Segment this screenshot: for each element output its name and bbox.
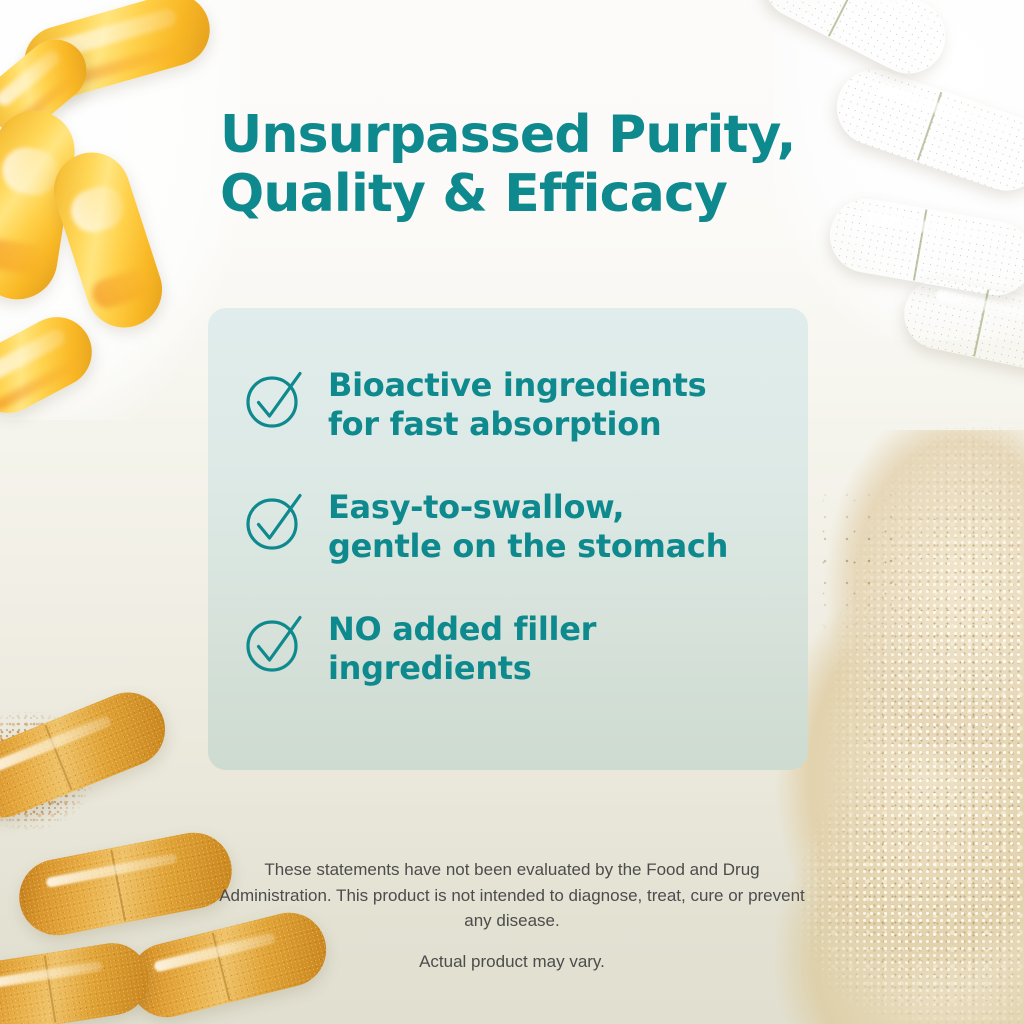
benefit-label: NO added filler ingredients	[328, 608, 596, 688]
benefit-line-2: for fast absorption	[328, 405, 661, 443]
benefit-line-1: NO added filler	[328, 610, 596, 648]
benefit-item: NO added filler ingredients	[242, 608, 774, 688]
benefit-item: Bioactive ingredients for fast absorptio…	[242, 364, 774, 444]
headline-line-2: Quality & Efficacy	[220, 164, 727, 224]
benefit-label: Bioactive ingredients for fast absorptio…	[328, 364, 706, 444]
content-layer: Unsurpassed Purity, Quality & Efficacy B…	[0, 0, 1024, 1024]
benefit-line-1: Bioactive ingredients	[328, 366, 706, 404]
benefit-item: Easy-to-swallow, gentle on the stomach	[242, 486, 774, 566]
check-circle-icon	[242, 488, 308, 554]
headline-line-1: Unsurpassed Purity,	[220, 105, 796, 165]
check-circle-icon	[242, 610, 308, 676]
fda-disclaimer: These statements have not been evaluated…	[212, 857, 812, 934]
check-circle-icon	[242, 366, 308, 432]
benefits-panel: Bioactive ingredients for fast absorptio…	[208, 308, 808, 770]
benefit-line-1: Easy-to-swallow,	[328, 488, 624, 526]
benefit-line-2: gentle on the stomach	[328, 527, 728, 565]
product-feature-graphic: Unsurpassed Purity, Quality & Efficacy B…	[0, 0, 1024, 1024]
page-title: Unsurpassed Purity, Quality & Efficacy	[220, 106, 820, 225]
benefit-label: Easy-to-swallow, gentle on the stomach	[328, 486, 728, 566]
benefit-line-2: ingredients	[328, 649, 532, 687]
product-variance-note: Actual product may vary.	[212, 949, 812, 975]
